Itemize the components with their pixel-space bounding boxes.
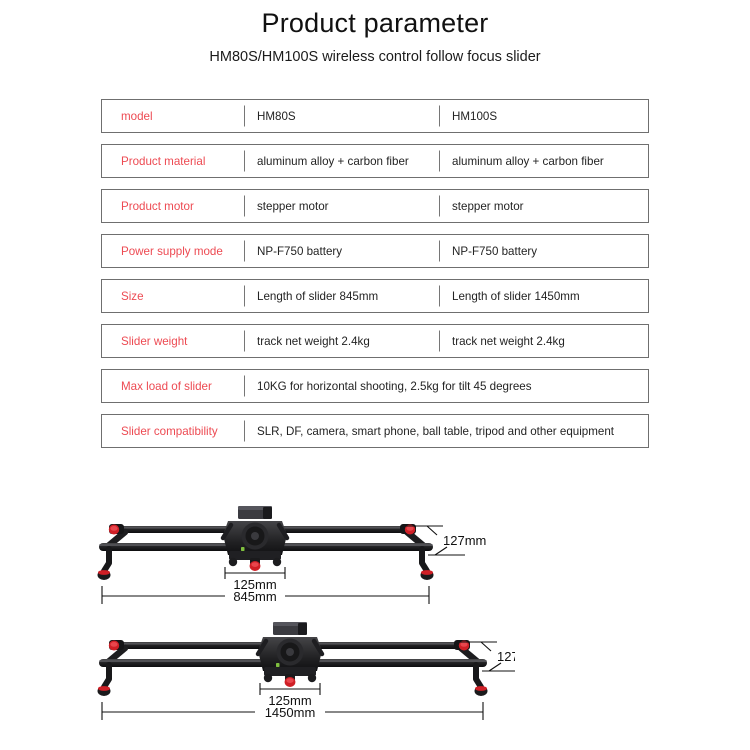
slider-carriage [223,506,287,571]
table-row: Product motor stepper motor stepper moto… [101,189,649,223]
table-row: model HM80S HM100S [101,99,649,133]
dimension-label-height: 127mm [497,649,515,664]
dimension-label-length: 1450mm [265,705,316,720]
spec-value-hm80s: Length of slider 845mm [244,290,439,303]
spec-label: Product material [102,155,244,168]
spec-value-shared: SLR, DF, camera, smart phone, ball table… [244,425,648,438]
table-row: Slider compatibility SLR, DF, camera, sm… [101,414,649,448]
dimension-label-height: 127mm [443,533,486,548]
slider-leg-right [421,549,434,580]
spec-label: Max load of slider [102,380,244,393]
table-row: Product material aluminum alloy + carbon… [101,144,649,178]
spec-label: model [102,110,244,123]
spec-value-hm100s: NP-F750 battery [439,245,648,258]
page-header: Product parameter HM80S/HM100S wireless … [0,0,750,66]
spec-label: Slider compatibility [102,425,244,438]
page-subtitle: HM80S/HM100S wireless control follow foc… [0,40,750,66]
slider-leg-right [475,665,488,696]
page-title: Product parameter [0,6,750,40]
spec-value-shared: 10KG for horizontal shooting, 2.5kg for … [244,380,648,393]
dimension-label-length: 845mm [233,589,276,604]
spec-value-hm80s: stepper motor [244,200,439,213]
spec-value-hm80s: NP-F750 battery [244,245,439,258]
table-row: Slider weight track net weight 2.4kg tra… [101,324,649,358]
end-clamp-left [109,640,124,651]
spec-value-hm80s: HM80S [244,110,439,123]
carriage-knob [250,558,261,571]
table-row: Max load of slider 10KG for horizontal s… [101,369,649,403]
spec-label: Size [102,290,244,303]
status-indicator [276,663,280,667]
carriage-knob [285,674,296,687]
slider-diagram-hm80s: 125mm 127mm 845mm [95,505,495,610]
spec-value-hm100s: track net weight 2.4kg [439,335,648,348]
spec-table: model HM80S HM100S Product material alum… [101,99,649,459]
slider-diagram-hm100s: 125mm 127mm 1450mm [95,620,515,730]
spec-value-hm100s: aluminum alloy + carbon fiber [439,155,648,168]
spec-value-hm100s: Length of slider 1450mm [439,290,648,303]
spec-label: Power supply mode [102,245,244,258]
spec-value-hm80s: aluminum alloy + carbon fiber [244,155,439,168]
spec-value-hm80s: track net weight 2.4kg [244,335,439,348]
slider-leg-left [98,665,111,696]
table-row: Power supply mode NP-F750 battery NP-F75… [101,234,649,268]
spec-value-hm100s: stepper motor [439,200,648,213]
spec-value-hm100s: HM100S [439,110,648,123]
slider-carriage [258,622,322,687]
slider-leg-left [98,549,111,580]
end-clamp-left [109,524,124,535]
spec-label: Slider weight [102,335,244,348]
status-indicator [241,547,245,551]
table-row: Size Length of slider 845mm Length of sl… [101,279,649,313]
spec-label: Product motor [102,200,244,213]
